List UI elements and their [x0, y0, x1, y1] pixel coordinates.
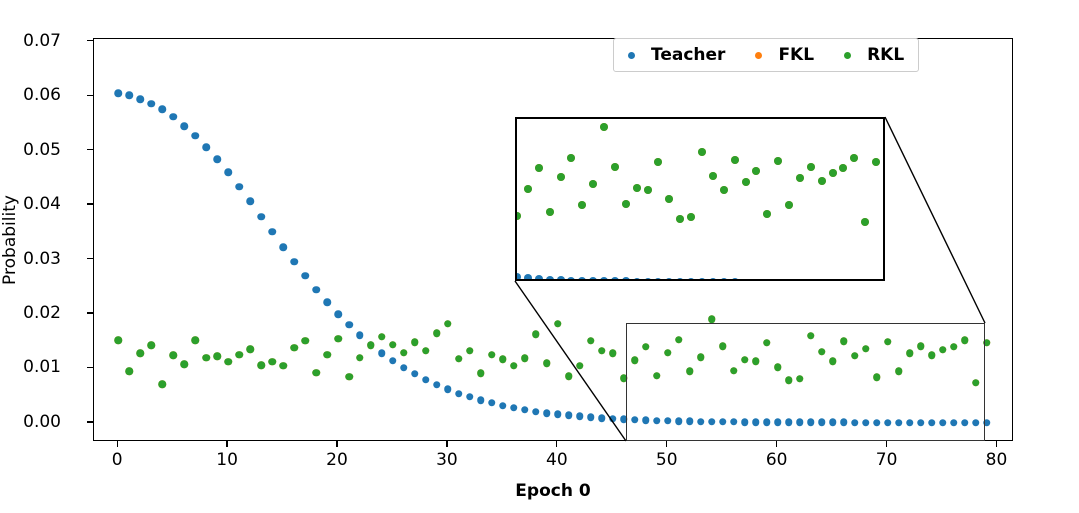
- data-point-teacher: [444, 385, 452, 393]
- inset-data-point-rkl: [515, 212, 521, 220]
- legend-entry-rkl[interactable]: RKL: [844, 45, 904, 65]
- data-point-rkl: [455, 355, 463, 363]
- data-point-rkl: [510, 362, 518, 370]
- data-point-teacher: [323, 298, 331, 306]
- x-tick-label: 0: [112, 450, 123, 470]
- legend-entry-fkl[interactable]: FKL: [755, 45, 814, 65]
- x-tick-label: 60: [766, 450, 788, 470]
- x-tick-mark: [666, 441, 667, 447]
- data-point-rkl: [158, 381, 166, 389]
- inset-data-point-rkl: [818, 177, 826, 185]
- data-point-rkl: [554, 320, 562, 328]
- data-point-teacher: [411, 370, 419, 378]
- inset-data-point-teacher: [524, 274, 532, 281]
- inset-data-point-teacher: [818, 279, 826, 281]
- inset-data-point-teacher: [752, 279, 760, 281]
- data-point-teacher: [554, 410, 562, 418]
- inset-data-point-teacher: [578, 277, 586, 281]
- inset-data-point-teacher: [829, 279, 837, 281]
- inset-data-point-teacher: [839, 279, 847, 281]
- inset-data-point-rkl: [763, 210, 771, 218]
- inset-data-point-teacher: [687, 278, 695, 281]
- data-point-teacher: [147, 100, 155, 108]
- x-tick-label: 40: [546, 450, 568, 470]
- inset-data-point-teacher: [850, 279, 858, 281]
- data-point-rkl: [532, 330, 540, 338]
- legend-dot-icon: [755, 52, 762, 59]
- inset-data-point-rkl: [839, 164, 847, 172]
- data-point-rkl: [587, 337, 595, 345]
- inset-data-point-rkl: [665, 195, 673, 203]
- data-point-rkl: [268, 358, 276, 366]
- y-tick-label: 0.06: [23, 85, 61, 105]
- data-point-teacher: [532, 408, 540, 416]
- y-tick-label: 0.07: [23, 31, 61, 51]
- inset-data-point-teacher: [644, 278, 652, 281]
- inset-data-point-rkl: [872, 158, 880, 166]
- inset-data-point-rkl: [589, 180, 597, 188]
- y-tick-label: 0.04: [23, 194, 61, 214]
- data-point-teacher: [499, 402, 507, 410]
- inset-data-point-teacher: [742, 279, 750, 281]
- data-point-rkl: [191, 336, 199, 344]
- data-point-rkl: [345, 373, 353, 381]
- data-point-teacher: [235, 183, 243, 191]
- data-point-rkl: [609, 349, 617, 357]
- inset-data-point-teacher: [622, 277, 630, 281]
- data-point-teacher: [587, 414, 595, 422]
- inset-data-point-teacher: [720, 278, 728, 281]
- data-point-rkl: [576, 362, 584, 370]
- inset-data-point-rkl: [709, 172, 717, 180]
- x-tick-label: 70: [876, 450, 898, 470]
- inset-data-point-rkl: [807, 163, 815, 171]
- legend-entry-teacher[interactable]: Teacher: [628, 45, 725, 65]
- data-point-rkl: [169, 352, 177, 360]
- x-tick-mark: [996, 441, 997, 447]
- inset-data-point-rkl: [567, 154, 575, 162]
- data-point-teacher: [180, 122, 188, 130]
- data-point-rkl: [411, 339, 419, 347]
- x-tick-label: 10: [216, 450, 238, 470]
- inset-data-point-rkl: [850, 154, 858, 162]
- inset-data-point-teacher: [763, 279, 771, 281]
- figure-canvas: Probability Epoch 0 0.000.010.020.030.04…: [0, 0, 1079, 513]
- inset-data-point-teacher: [861, 279, 869, 281]
- data-point-rkl: [543, 359, 551, 367]
- data-point-teacher: [466, 393, 474, 401]
- inset-data-point-teacher: [557, 276, 565, 281]
- data-point-rkl: [433, 329, 441, 337]
- data-point-rkl: [125, 367, 133, 375]
- data-point-teacher: [400, 364, 408, 372]
- data-point-teacher: [312, 286, 320, 294]
- data-point-rkl: [400, 349, 408, 357]
- data-point-rkl: [290, 344, 298, 352]
- inset-data-point-rkl: [644, 186, 652, 194]
- data-point-teacher: [224, 169, 232, 177]
- data-point-teacher: [345, 321, 353, 329]
- data-point-teacher: [334, 310, 342, 318]
- data-point-teacher: [136, 96, 144, 104]
- inset-data-point-teacher: [633, 278, 641, 281]
- data-point-rkl: [235, 351, 243, 359]
- x-tick-mark: [336, 441, 337, 447]
- data-point-teacher: [389, 357, 397, 365]
- y-tick-label: 0.02: [23, 303, 61, 323]
- chart-legend: TeacherFKLRKL: [613, 38, 919, 72]
- data-point-teacher: [114, 90, 122, 98]
- legend-dot-icon: [844, 52, 851, 59]
- data-point-rkl: [598, 347, 606, 355]
- y-axis-label: Probability: [0, 195, 20, 285]
- data-point-rkl: [466, 347, 474, 355]
- inset-data-point-rkl: [557, 173, 565, 181]
- data-point-rkl: [356, 354, 364, 362]
- inset-data-point-rkl: [654, 158, 662, 166]
- inset-data-point-teacher: [785, 279, 793, 281]
- inset-data-point-rkl: [731, 156, 739, 164]
- data-point-rkl: [114, 336, 122, 344]
- data-point-teacher: [301, 272, 309, 280]
- data-point-teacher: [378, 349, 386, 357]
- zoom-inset-panel: [515, 117, 885, 281]
- inset-data-point-rkl: [633, 184, 641, 192]
- data-point-rkl: [323, 351, 331, 359]
- x-tick-label: 30: [436, 450, 458, 470]
- inset-data-point-rkl: [861, 218, 869, 226]
- inset-data-point-teacher: [546, 276, 554, 281]
- legend-label: Teacher: [651, 45, 725, 65]
- data-point-teacher: [257, 213, 265, 221]
- x-tick-mark: [226, 441, 227, 447]
- data-point-rkl: [378, 333, 386, 341]
- x-tick-label: 80: [986, 450, 1008, 470]
- inset-data-point-rkl: [785, 201, 793, 209]
- data-point-rkl: [499, 355, 507, 363]
- inset-data-point-teacher: [807, 279, 815, 281]
- data-point-rkl: [213, 353, 221, 361]
- data-point-rkl: [565, 372, 573, 380]
- data-point-rkl: [312, 369, 320, 377]
- data-point-teacher: [543, 409, 551, 417]
- inset-data-point-rkl: [687, 213, 695, 221]
- legend-dot-icon: [628, 52, 635, 59]
- data-point-rkl: [422, 347, 430, 355]
- inset-data-point-teacher: [654, 278, 662, 281]
- data-point-teacher: [158, 106, 166, 114]
- data-point-rkl: [301, 337, 309, 345]
- inset-data-point-teacher: [731, 278, 739, 281]
- data-point-teacher: [488, 399, 496, 407]
- inset-data-point-teacher: [567, 277, 575, 281]
- data-point-teacher: [510, 404, 518, 412]
- data-point-teacher: [290, 258, 298, 266]
- data-point-teacher: [169, 113, 177, 121]
- y-tick-label: 0.05: [23, 140, 61, 160]
- inset-data-point-rkl: [535, 164, 543, 172]
- data-point-rkl: [389, 341, 397, 349]
- data-point-rkl: [202, 354, 210, 362]
- data-point-teacher: [576, 413, 584, 421]
- inset-data-point-rkl: [622, 200, 630, 208]
- data-point-teacher: [422, 376, 430, 384]
- inset-data-point-rkl: [774, 157, 782, 165]
- data-point-teacher: [598, 414, 606, 422]
- data-point-rkl: [367, 341, 375, 349]
- data-point-teacher: [521, 406, 529, 414]
- data-point-teacher: [356, 332, 364, 340]
- inset-data-point-rkl: [752, 167, 760, 175]
- data-point-rkl: [180, 360, 188, 368]
- inset-data-point-teacher: [611, 277, 619, 281]
- inset-data-point-rkl: [600, 123, 608, 131]
- data-point-rkl: [334, 335, 342, 343]
- legend-label: FKL: [778, 45, 814, 65]
- inset-data-point-teacher: [535, 275, 543, 281]
- data-point-teacher: [246, 198, 254, 206]
- y-tick-label: 0.00: [23, 412, 61, 432]
- inset-data-point-rkl: [611, 163, 619, 171]
- y-tick-label: 0.01: [23, 357, 61, 377]
- x-tick-mark: [117, 441, 118, 447]
- data-point-rkl: [257, 361, 265, 369]
- data-point-teacher: [213, 156, 221, 164]
- data-point-rkl: [279, 362, 287, 370]
- x-tick-mark: [556, 441, 557, 447]
- data-point-rkl: [444, 320, 452, 328]
- data-point-teacher: [268, 228, 276, 236]
- inset-data-point-rkl: [546, 208, 554, 216]
- data-point-teacher: [477, 396, 485, 404]
- data-point-teacher: [433, 381, 441, 389]
- x-tick-label: 20: [326, 450, 348, 470]
- inset-data-point-rkl: [698, 148, 706, 156]
- x-tick-mark: [886, 441, 887, 447]
- data-point-teacher: [609, 415, 617, 423]
- data-point-rkl: [477, 370, 485, 378]
- data-point-rkl: [488, 351, 496, 359]
- data-point-teacher: [191, 132, 199, 140]
- inset-data-point-teacher: [665, 278, 673, 281]
- inset-data-point-rkl: [676, 215, 684, 223]
- inset-data-point-teacher: [698, 278, 706, 281]
- inset-data-point-teacher: [589, 277, 597, 281]
- inset-data-point-teacher: [774, 279, 782, 281]
- inset-data-point-teacher: [796, 279, 804, 281]
- inset-data-point-rkl: [524, 185, 532, 193]
- data-point-rkl: [147, 341, 155, 349]
- inset-data-point-rkl: [578, 201, 586, 209]
- x-axis-label: Epoch 0: [515, 481, 590, 501]
- data-point-teacher: [455, 390, 463, 398]
- inset-data-point-teacher: [676, 278, 684, 281]
- inset-source-region-box: [626, 323, 985, 441]
- inset-data-point-rkl: [742, 178, 750, 186]
- inset-data-point-rkl: [829, 169, 837, 177]
- data-point-teacher: [125, 91, 133, 99]
- inset-data-point-teacher: [515, 273, 521, 281]
- data-point-teacher: [202, 144, 210, 152]
- y-tick-label: 0.03: [23, 249, 61, 269]
- inset-data-point-teacher: [709, 278, 717, 281]
- inset-data-point-rkl: [796, 174, 804, 182]
- inset-data-point-rkl: [720, 186, 728, 194]
- inset-data-point-teacher: [600, 277, 608, 281]
- x-tick-mark: [446, 441, 447, 447]
- legend-label: RKL: [867, 45, 904, 65]
- x-tick-mark: [776, 441, 777, 447]
- data-point-rkl: [224, 358, 232, 366]
- data-point-teacher: [279, 243, 287, 251]
- x-tick-label: 50: [656, 450, 678, 470]
- data-point-rkl: [246, 346, 254, 354]
- data-point-rkl: [136, 349, 144, 357]
- data-point-teacher: [565, 412, 573, 420]
- inset-data-point-teacher: [872, 279, 880, 281]
- data-point-rkl: [521, 354, 529, 362]
